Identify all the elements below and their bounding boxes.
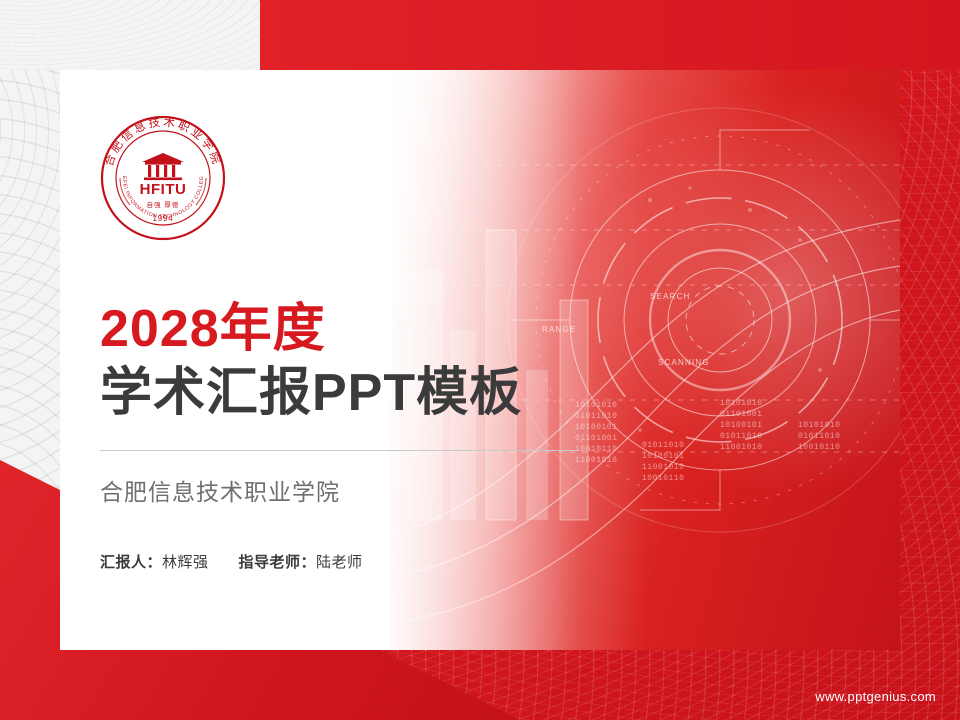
year-title: 2028年度 — [100, 300, 620, 358]
college-emblem: 合肥信息技术职业学院 HEFEI INFORMATION TECHNOLOGY … — [100, 115, 226, 241]
organization-name: 合肥信息技术职业学院 — [100, 473, 620, 507]
advisor-name: 陆老师 — [316, 554, 363, 571]
svg-text:HFITU: HFITU — [140, 181, 187, 198]
advisor-label: 指导老师： — [239, 554, 317, 571]
footer-url[interactable]: www.pptgenius.com — [815, 689, 936, 704]
tech-label-scanning: SCANNING — [658, 358, 710, 367]
slide-canvas: SEARCH RANGE SCANNING 10101010 01011010 … — [0, 0, 960, 720]
presenter-label: 汇报人： — [100, 554, 162, 571]
svg-text:1994: 1994 — [153, 214, 174, 223]
slide-content-card: SEARCH RANGE SCANNING 10101010 01011010 … — [60, 70, 900, 650]
presenter-name: 林辉强 — [162, 554, 209, 571]
top-red-bar — [260, 0, 960, 70]
binary-column-mid: 01011010 10100101 11001010 10010110 — [642, 440, 684, 484]
title-block: 2028年度 学术汇报PPT模板 合肥信息技术职业学院 汇报人：林辉强指导老师：… — [100, 300, 620, 572]
binary-column-right: 10101010 01101001 10100101 01011010 1100… — [720, 398, 762, 453]
title-divider — [100, 450, 580, 451]
tech-label-search: SEARCH — [650, 292, 691, 301]
top-left-topo-strip — [0, 0, 260, 70]
svg-text:自强 厚德: 自强 厚德 — [147, 200, 180, 209]
presenter-meta: 汇报人：林辉强指导老师：陆老师 — [100, 551, 620, 572]
emblem-graphic: 合肥信息技术职业学院 HEFEI INFORMATION TECHNOLOGY … — [100, 115, 226, 241]
binary-column-far-right: 10101010 01011010 10010110 — [798, 420, 840, 453]
main-title: 学术汇报PPT模板 — [100, 364, 620, 424]
